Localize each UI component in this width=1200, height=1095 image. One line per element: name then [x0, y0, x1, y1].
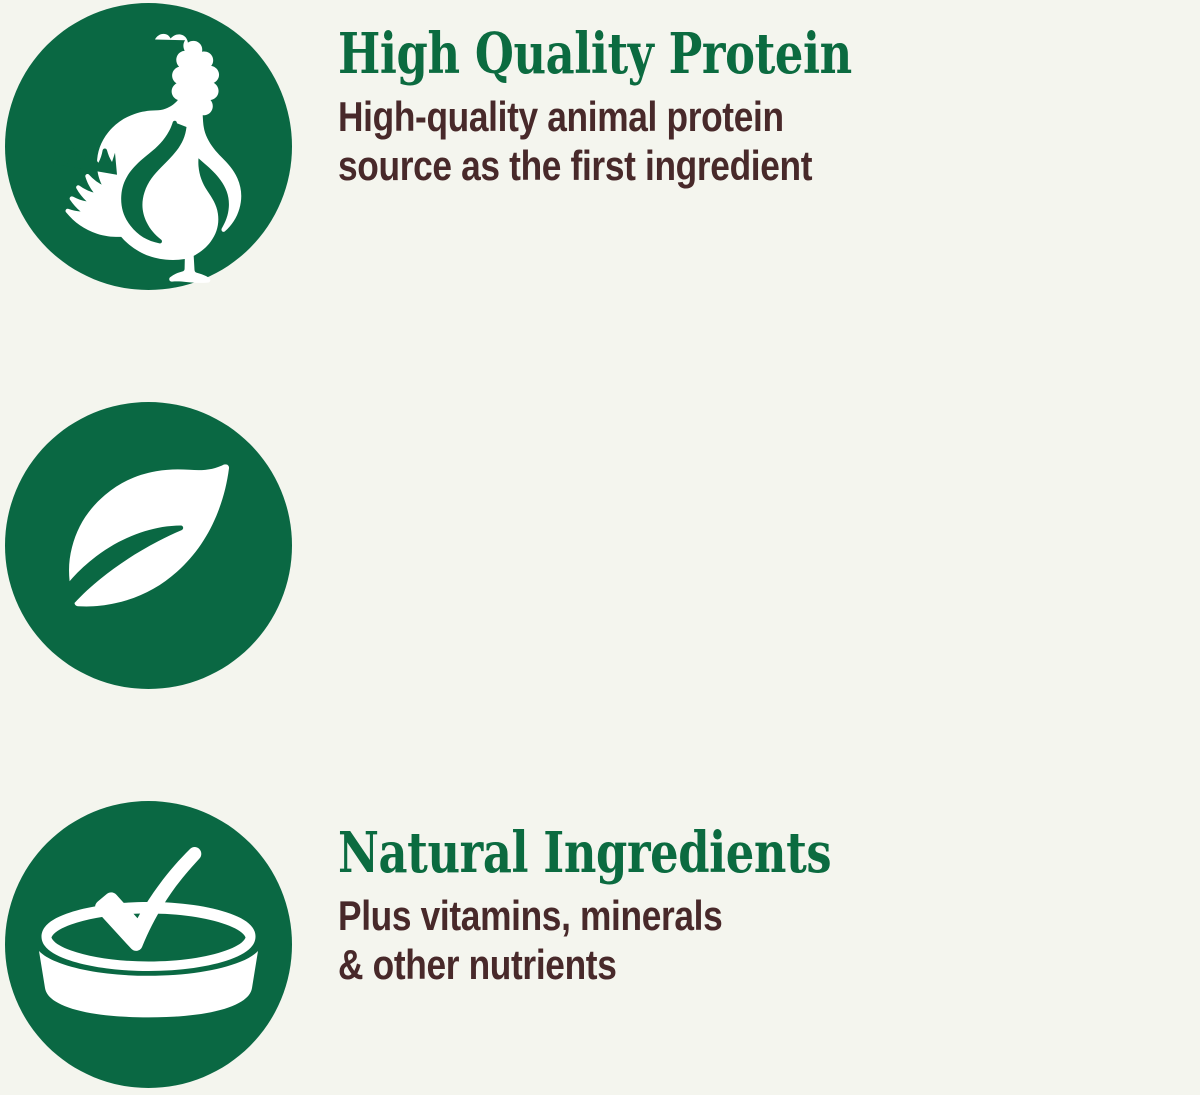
feature-item-complete-daily-nutrition: Complete Daily Nutrition for Adult Dogs … [0, 800, 1200, 1095]
feature-title: High Quality Protein [338, 26, 1028, 84]
rooster-icon-badge [5, 3, 292, 290]
dog-bowl-check-icon-badge [5, 801, 292, 1088]
rooster-icon [5, 3, 292, 290]
feature-description: High-quality animal protein source as th… [338, 92, 1062, 190]
feature-item-natural-ingredients: Natural Ingredients Plus vitamins, miner… [0, 400, 1200, 800]
feature-benefits-panel: High Quality Protein High-quality animal… [0, 0, 1200, 1095]
dog-bowl-check-icon [5, 801, 292, 1088]
feature-item-high-quality-protein: High Quality Protein High-quality animal… [0, 0, 1200, 400]
leaf-icon [5, 402, 292, 689]
leaf-icon-badge [5, 402, 292, 689]
feature-copy: High Quality Protein High-quality animal… [338, 26, 1200, 190]
